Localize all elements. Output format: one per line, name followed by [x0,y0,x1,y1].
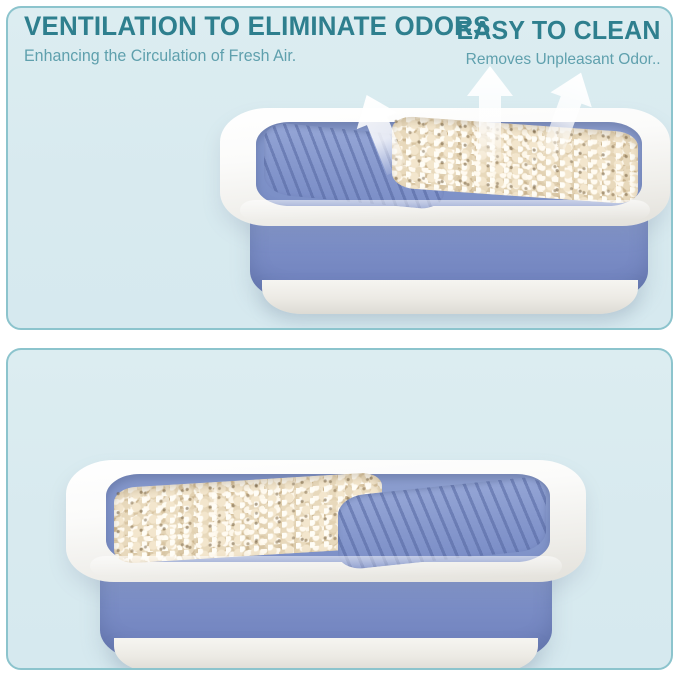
panel-2-heading: EASY TO CLEAN [457,14,661,46]
litter-box-easy-clean [66,460,586,670]
panel-1-subtitle: Enhancing the Circulation of Fresh Air. [24,44,495,68]
product-feature-image: VENTILATION TO ELIMINATE ODORS Enhancing… [0,0,679,676]
panel-1-text-block: VENTILATION TO ELIMINATE ODORS Enhancing… [24,10,510,68]
feature-panel-easy-to-clean [6,348,673,670]
litter-box-base [114,638,538,670]
litter-box-ventilation [220,108,670,323]
panel-1-heading: VENTILATION TO ELIMINATE ODORS [24,10,491,42]
airflow-arrow-center [467,66,513,162]
panel-2-subtitle: Removes Unpleasant Odor.. [455,48,661,72]
panel-2-text-block: EASY TO CLEAN Removes Unpleasant Odor.. [448,14,661,72]
litter-box-base [262,280,638,314]
